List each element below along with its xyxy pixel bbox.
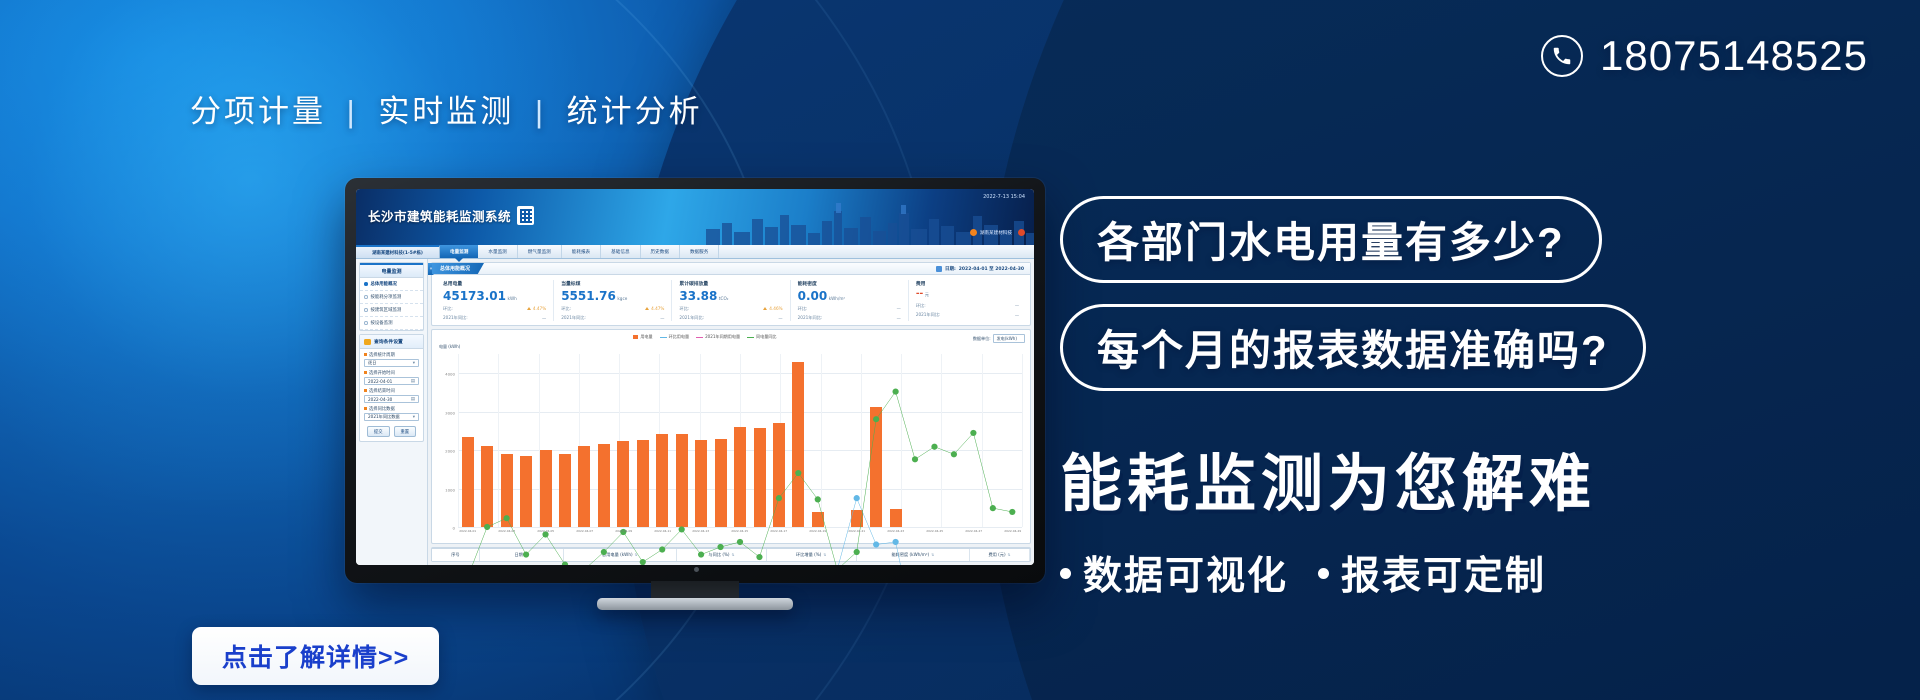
kpi-chain-label: 环比:	[679, 306, 689, 312]
kpi-unit: 元	[925, 293, 929, 297]
chart-y-tick: 3000	[445, 410, 455, 415]
bullet-square-icon	[364, 371, 367, 374]
kpi-chain-label: 环比:	[561, 306, 571, 312]
panel-date-value: 2022-04-01 至 2022-04-30	[959, 266, 1024, 272]
chart-x-tick	[595, 529, 612, 533]
query-field-label: 选择结束时间	[364, 388, 419, 394]
phone-number: 18075148525	[1600, 32, 1868, 80]
calendar-icon: ▤	[411, 397, 415, 402]
chart-unit-picker[interactable]: 数据单位: 发电(kWh)	[973, 334, 1025, 343]
kpi-yoy-value: —	[660, 316, 664, 321]
chart-point	[659, 546, 665, 552]
chart-x-tick	[984, 529, 1001, 533]
phone-circle-icon	[1541, 35, 1583, 77]
chart-point	[717, 544, 723, 550]
chart-point	[601, 549, 607, 555]
kpi-value-block: 45173.01 kWh	[443, 290, 546, 302]
nav-tab-list: 电量监测 水量监测 燃气量监测 能耗报表 基础信息 历史数据 数据服务	[440, 245, 719, 258]
kpi-value-block: -- 元	[916, 290, 1019, 299]
nav-tab-basic-info[interactable]: 基础信息	[601, 245, 640, 258]
query-field-label: 选择开始时间	[364, 370, 419, 376]
kicker-item-2: 实时监测	[378, 94, 514, 129]
kpi-yoy-row: 2021年同比: —	[679, 315, 782, 321]
chart-x-tick	[556, 529, 573, 533]
panel-date-range: 日期: 2022-04-01 至 2022-04-30	[936, 266, 1030, 272]
kicker-separator-1: |	[347, 94, 358, 129]
chart-point	[873, 416, 879, 422]
panel-header: 总体用能概况 日期: 2022-04-01 至 2022-04-30	[432, 263, 1030, 275]
sidebar-item-overview[interactable]: 总体用能概况	[360, 278, 423, 291]
sidebar-item-label: 按设备监测	[371, 320, 393, 326]
bullet-icon	[364, 308, 368, 312]
nav-tab-water[interactable]: 水量监测	[478, 245, 517, 258]
chart-point	[756, 554, 762, 560]
chart-x-tick	[518, 529, 535, 533]
app-timestamp: 2022-7-13 15:04	[983, 194, 1025, 200]
kpi-yoy-label: 2021年同比:	[798, 315, 823, 321]
chart-x-tick: 2022-04-29	[1004, 529, 1021, 533]
kpi-card-carbon: 累计碳排放量 33.88 tCO₂ 环比:	[672, 280, 790, 321]
legend-item-lastyear[interactable]: 2021年同期用电量	[696, 334, 740, 340]
sidebar-item-label: 按建筑区域监测	[371, 307, 402, 313]
filter-icon	[364, 339, 371, 345]
start-date-value: 2022-04-01	[368, 379, 392, 384]
nav-tab-electricity[interactable]: 电量监测	[440, 245, 478, 258]
promo-bullet-1-label: 数据可视化	[1083, 545, 1288, 601]
chart-x-tick: 2022-04-15	[732, 529, 749, 533]
kpi-chain-row: 环比: 4.47%	[561, 306, 664, 312]
chart-x-tick	[945, 529, 962, 533]
chart-y-tick: 2000	[445, 449, 455, 454]
start-date-input[interactable]: 2022-04-01 ▤	[364, 377, 419, 385]
kpi-card-total-electricity: 总用电量 45173.01 kWh 环比:	[436, 280, 554, 321]
chart-point	[1009, 509, 1015, 515]
kpi-chain-row: 环比: 4.47%	[443, 306, 546, 312]
kpi-title: 总用电量	[443, 280, 546, 287]
chart-x-tick	[751, 529, 768, 533]
chart-point	[990, 505, 996, 511]
chart-unit-label: 数据单位:	[973, 336, 991, 342]
promo-bullets: 数据可视化 报表可定制	[1060, 545, 1890, 601]
nav-tab-data-service[interactable]: 数据服务	[680, 245, 719, 258]
monitor-frame: 长沙市建筑能耗监测系统 2022-7-13 15:04 湖南某建材科技 湖南某建…	[345, 178, 1045, 583]
contact-phone[interactable]: 18075148525	[1541, 32, 1868, 80]
energy-monitoring-app: 长沙市建筑能耗监测系统 2022-7-13 15:04 湖南某建材科技 湖南某建…	[356, 189, 1034, 565]
bullet-square-icon	[364, 389, 367, 392]
chart-y-tick: 4000	[445, 372, 455, 377]
skyline-graphic	[704, 199, 1034, 245]
kpi-yoy-label: 2021年同比:	[561, 315, 586, 321]
kpi-value: --	[916, 290, 923, 299]
chevron-down-icon: ▾	[413, 361, 415, 366]
kpi-unit: tCO₂	[719, 297, 729, 301]
chart-point	[640, 559, 646, 565]
app-body: 电量监测 总体用能概况 按能耗分项监测 按建筑区域监	[356, 259, 1034, 565]
legend-item-usage[interactable]: 用电量	[633, 334, 652, 340]
app-nav-bar: 湖南某建材科技(1-5#栋) 电量监测 水量监测 燃气量监测 能耗报表 基础信息…	[356, 245, 1034, 259]
bullet-icon	[364, 321, 368, 325]
chart-legend: 用电量 环比用电量 2021年同期用电量 同电量同比	[437, 334, 973, 340]
logout-icon[interactable]	[1018, 229, 1025, 236]
sidebar-nav-card: 电量监测 总体用能概况 按能耗分项监测 按建筑区域监	[359, 262, 424, 331]
sidebar-item-label: 按能耗分项监测	[371, 294, 402, 300]
app-main: 总体用能概况 日期: 2022-04-01 至 2022-04-30 总用电量	[428, 259, 1034, 565]
kpi-value: 0.00	[798, 290, 828, 302]
period-value: 逐日	[368, 360, 376, 366]
kpi-chain-row: 环比: 4.46%	[679, 306, 782, 312]
chart-point	[893, 389, 899, 395]
monitor-indicator-led	[694, 567, 699, 572]
query-label-text: 选择结束时间	[369, 388, 395, 394]
kpi-value: 5551.76	[561, 290, 616, 302]
reset-button[interactable]: 重置	[394, 426, 417, 437]
kpi-yoy-row: 2021年同比: —	[916, 312, 1019, 318]
kicker-item-3: 统计分析	[567, 94, 703, 129]
chart-point	[854, 495, 860, 501]
query-field-period: 选择统计周期 逐日 ▾	[360, 349, 423, 367]
chart-point	[951, 451, 957, 457]
query-label-text: 选择统计周期	[369, 352, 395, 358]
bullet-icon	[364, 282, 368, 286]
kpi-yoy-label: 2021年同比:	[679, 315, 704, 321]
query-field-yoy: 选择同比数据 2021年同比数据 ▾	[360, 403, 423, 421]
kpi-title: 累计碳排放量	[679, 280, 782, 287]
chart-x-tick	[712, 529, 729, 533]
kpi-chain-value-block: 4.46%	[763, 306, 782, 311]
period-select[interactable]: 逐日 ▾	[364, 359, 419, 367]
calendar-icon	[936, 266, 942, 272]
nav-tab-gas[interactable]: 燃气量监测	[518, 245, 562, 258]
sidebar-item-label: 总体用能概况	[371, 281, 397, 287]
chart-x-tick: 2022-04-09	[615, 529, 632, 533]
kpi-yoy-row: 2021年同比: —	[798, 315, 901, 321]
kpi-value-block: 5551.76 kgce	[561, 290, 664, 302]
panel-date-label: 日期:	[945, 266, 956, 272]
chart-x-tick	[479, 529, 496, 533]
sidebar-item-area[interactable]: 按建筑区域监测	[360, 304, 423, 317]
sidebar-item-subitem[interactable]: 按能耗分项监测	[360, 291, 423, 304]
kpi-unit: kgce	[617, 297, 627, 301]
monitor-stand-base	[597, 598, 793, 610]
chart-x-tick: 2022-04-19	[809, 529, 826, 533]
app-user-name: 湖南某建材科技	[980, 230, 1012, 236]
kpi-value-block: 0.00 kWh/m²	[798, 290, 901, 302]
kpi-title: 费用	[916, 280, 1019, 287]
chart-y-tick: 0	[453, 526, 455, 531]
kpi-yoy-value: —	[897, 316, 901, 321]
kpi-chain-value-block: 4.47%	[527, 306, 546, 311]
arrow-up-icon	[763, 307, 767, 310]
app-sidebar: 电量监测 总体用能概况 按能耗分项监测 按建筑区域监	[356, 259, 428, 565]
query-label-text: 选择开始时间	[369, 370, 395, 376]
query-field-label: 选择同比数据	[364, 406, 419, 412]
kpi-chain-label: 环比:	[916, 303, 926, 309]
kpi-unit: kWh	[508, 297, 517, 301]
query-field-label: 选择统计周期	[364, 352, 419, 358]
kpi-title: 当量标煤	[561, 280, 664, 287]
arrow-up-icon	[527, 307, 531, 310]
kpi-chain-label: 环比:	[443, 306, 453, 312]
chart-point	[523, 551, 529, 557]
chart-plot-area: 01000200030004000 2022-04-012022-04-0320…	[458, 354, 1022, 527]
kpi-yoy-label: 2021年同比:	[916, 312, 941, 318]
query-settings-title: 查询条件设置	[360, 335, 423, 349]
chart-header: 用电量 环比用电量 2021年同期用电量 同电量同比 数据单位: 发电(kWh)	[437, 334, 1025, 343]
chart-x-tick: 2022-04-03	[498, 529, 515, 533]
nav-org-tab[interactable]: 湖南某建材科技(1-5#栋)	[356, 245, 440, 258]
chart-x-tick: 2022-04-07	[576, 529, 593, 533]
chart-x-tick	[634, 529, 651, 533]
cta-button[interactable]: 点击了解详情>>	[192, 627, 439, 685]
app-title-block: 长沙市建筑能耗监测系统	[368, 206, 534, 225]
chart-point	[562, 561, 568, 565]
query-settings-card: 查询条件设置 选择统计周期 逐日 ▾	[359, 334, 424, 442]
chart-unit-select[interactable]: 发电(kWh)	[993, 334, 1025, 343]
kpi-card-cost: 费用 -- 元 环比: —	[909, 280, 1026, 321]
kpi-yoy-value: —	[542, 316, 546, 321]
chart-x-tick: 2022-04-11	[654, 529, 671, 533]
chart-point	[893, 539, 899, 545]
user-avatar-icon	[970, 229, 977, 236]
app-user-block[interactable]: 湖南某建材科技	[970, 229, 1025, 236]
chart-y-axis-label: 电量 (kWh)	[439, 344, 460, 350]
kicker-separator-2: |	[535, 94, 546, 129]
legend-item-yoy[interactable]: 同电量同比	[747, 334, 776, 340]
end-date-value: 2022-04-30	[368, 397, 392, 402]
kpi-chain-value: 4.47%	[533, 306, 546, 311]
kpi-value-block: 33.88 tCO₂	[679, 290, 782, 302]
query-field-start: 选择开始时间 2022-04-01 ▤	[360, 367, 423, 385]
overview-panel: 总体用能概况 日期: 2022-04-01 至 2022-04-30 总用电量	[431, 262, 1031, 326]
promo-question-2: 每个月的报表数据准确吗?	[1060, 304, 1646, 391]
chart-x-tick: 2022-04-23	[887, 529, 904, 533]
query-title-text: 查询条件设置	[374, 338, 403, 345]
kpi-value: 33.88	[679, 290, 717, 302]
promo-bullet-2-label: 报表可定制	[1341, 545, 1546, 601]
chart-x-tick	[907, 529, 924, 533]
submit-button[interactable]: 提交	[367, 426, 390, 437]
chart-y-tick: 1000	[445, 487, 455, 492]
kpi-yoy-value: —	[1015, 313, 1019, 318]
chart-x-tick	[829, 529, 846, 533]
chart-point	[795, 470, 801, 476]
end-date-input[interactable]: 2022-04-30 ▤	[364, 395, 419, 403]
kpi-card-energy-density: 能耗密度 0.00 kWh/m² 环比: —	[791, 280, 909, 321]
chart-point	[873, 541, 879, 547]
kpi-chain-label: 环比:	[798, 306, 808, 312]
yoy-value: 2021年同比数据	[368, 414, 400, 420]
promo-bullet-2: 报表可定制	[1318, 545, 1546, 601]
chart-gridline-vertical	[1022, 354, 1023, 527]
calendar-icon: ▤	[411, 379, 415, 384]
chart-x-tick	[790, 529, 807, 533]
app-header: 长沙市建筑能耗监测系统 2022-7-13 15:04 湖南某建材科技	[356, 189, 1034, 245]
bullet-dot-icon	[1060, 568, 1071, 579]
chart-x-tick: 2022-04-13	[693, 529, 710, 533]
chart-x-tick: 2022-04-25	[926, 529, 943, 533]
kicker-item-1: 分项计量	[190, 94, 326, 129]
monitor-screen: 长沙市建筑能耗监测系统 2022-7-13 15:04 湖南某建材科技 湖南某建…	[356, 189, 1034, 565]
chart-x-tick: 2022-04-27	[965, 529, 982, 533]
kpi-chain-row: 环比: —	[916, 303, 1019, 309]
chart-point	[970, 430, 976, 436]
kpi-title: 能耗密度	[798, 280, 901, 287]
chart-lines	[458, 354, 1022, 565]
kicker-tagline: 分项计量 | 实时监测 | 统计分析	[190, 86, 703, 131]
chart-point	[698, 551, 704, 557]
bullet-dot-icon	[1318, 568, 1329, 579]
kpi-yoy-row: 2021年同比: —	[443, 315, 546, 321]
kpi-chain-value-block: 4.47%	[645, 306, 664, 311]
query-buttons: 提交 重置	[360, 421, 423, 441]
chart-point	[504, 515, 510, 521]
sidebar-item-device[interactable]: 按设备监测	[360, 317, 423, 330]
bullet-icon	[364, 295, 368, 299]
chart-point	[912, 456, 918, 462]
legend-item-chain[interactable]: 环比用电量	[660, 334, 689, 340]
chart-x-axis-labels: 2022-04-012022-04-032022-04-052022-04-07…	[458, 529, 1022, 533]
arrow-up-icon	[645, 307, 649, 310]
panel-tab-label: 总体用能概况	[432, 263, 484, 274]
chart-panel: 用电量 环比用电量 2021年同期用电量 同电量同比 数据单位: 发电(kWh)	[431, 329, 1031, 544]
kpi-chain-row: 环比: —	[798, 306, 901, 312]
chevron-down-icon: ▾	[413, 415, 415, 420]
kpi-chain-value: —	[897, 306, 901, 311]
yoy-select[interactable]: 2021年同比数据 ▾	[364, 413, 419, 421]
promo-headline: 能耗监测为您解难	[1060, 433, 1890, 523]
query-field-end: 选择结束时间 2022-04-30 ▤	[360, 385, 423, 403]
query-label-text: 选择同比数据	[369, 406, 395, 412]
kpi-chain-value: 4.47%	[651, 306, 664, 311]
chart-point	[931, 444, 937, 450]
chart-x-tick: 2022-04-05	[537, 529, 554, 533]
chart-point	[815, 496, 821, 502]
chart-x-tick: 2022-04-21	[848, 529, 865, 533]
kpi-unit: kWh/m²	[829, 297, 845, 301]
chart-x-tick: 2022-04-01	[459, 529, 476, 533]
bullet-square-icon	[364, 353, 367, 356]
monitor-mockup: 长沙市建筑能耗监测系统 2022-7-13 15:04 湖南某建材科技 湖南某建…	[345, 178, 1045, 613]
promo-question-1: 各部门水电用量有多少?	[1060, 196, 1602, 283]
chart-x-tick	[868, 529, 885, 533]
kpi-row: 总用电量 45173.01 kWh 环比:	[432, 275, 1030, 325]
promo-bullet-1: 数据可视化	[1060, 545, 1288, 601]
nav-tab-history[interactable]: 历史数据	[641, 245, 680, 258]
nav-tab-report[interactable]: 能耗报表	[562, 245, 601, 258]
kpi-value: 45173.01	[443, 290, 506, 302]
sidebar-title: 电量监测	[360, 263, 423, 278]
chart-x-tick: 2022-04-17	[770, 529, 787, 533]
bullet-square-icon	[364, 407, 367, 410]
kpi-chain-value: —	[1015, 303, 1019, 308]
building-icon	[517, 206, 534, 225]
chart-x-tick	[673, 529, 690, 533]
kpi-yoy-value: —	[778, 316, 782, 321]
chart-point	[854, 549, 860, 555]
kpi-yoy-row: 2021年同比: —	[561, 315, 664, 321]
promo-column: 各部门水电用量有多少? 每个月的报表数据准确吗? 能耗监测为您解难 数据可视化 …	[1060, 196, 1890, 601]
chart-point	[776, 495, 782, 501]
kpi-card-standard-coal: 当量标煤 5551.76 kgce 环比:	[554, 280, 672, 321]
kpi-chain-value: 4.46%	[769, 306, 782, 311]
app-title-text: 长沙市建筑能耗监测系统	[368, 206, 511, 225]
kpi-yoy-label: 2021年同比:	[443, 315, 468, 321]
chart-point	[737, 539, 743, 545]
